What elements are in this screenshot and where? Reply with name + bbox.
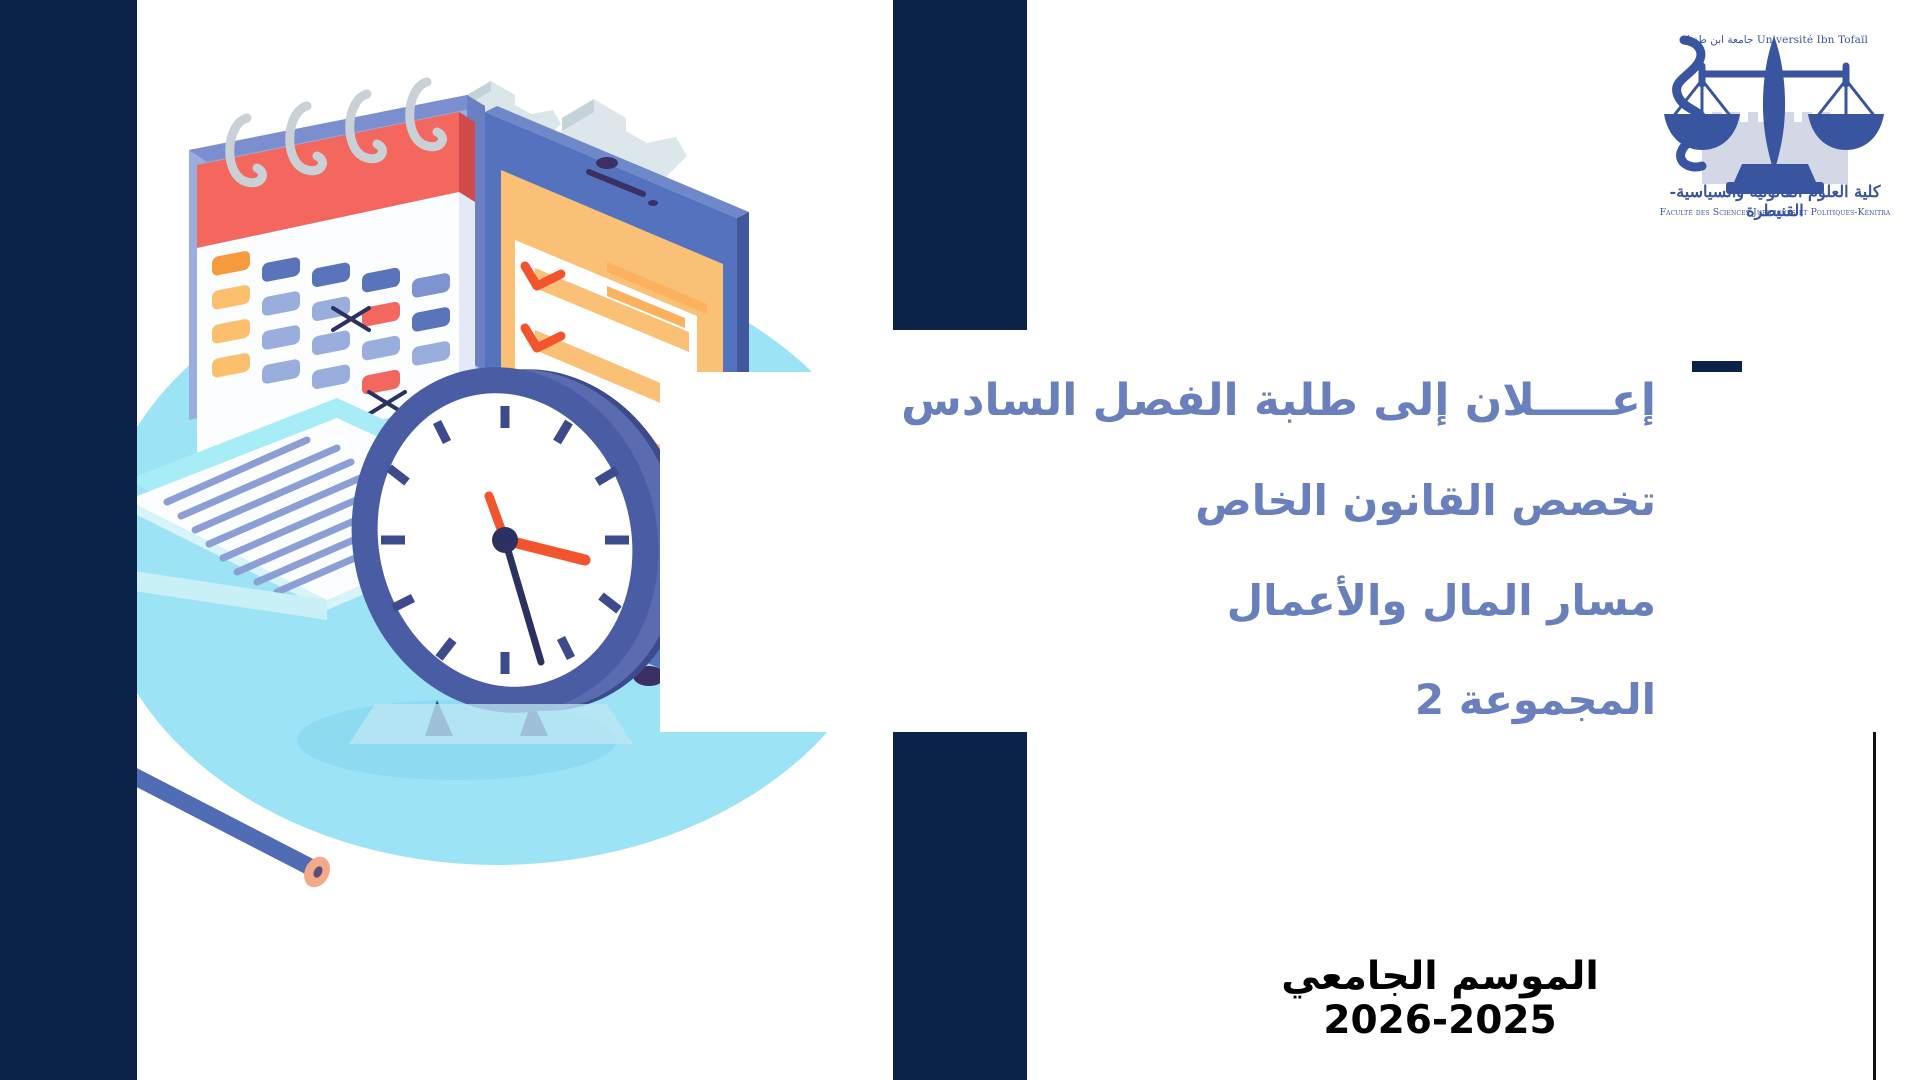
title-line-3: مسار المال والأعمال bbox=[660, 579, 1656, 623]
right-thin-rule bbox=[1873, 712, 1876, 1080]
logo-university-name: Université Ibn Tofaïl جامعة ابن طفيل bbox=[1650, 34, 1900, 46]
tablet-speaker bbox=[596, 157, 618, 169]
tablet-camera bbox=[648, 200, 658, 206]
academic-year-value: 2026-2025 bbox=[1100, 999, 1780, 1043]
title-line-1: إعـــــلان إلى طلبة الفصل السادس bbox=[660, 378, 1656, 424]
clock-foot bbox=[349, 704, 633, 744]
mid-navy-bar-top bbox=[893, 0, 1027, 330]
title-line-4: المجموعة 2 bbox=[660, 678, 1656, 722]
left-navy-bar bbox=[0, 0, 137, 1080]
academic-year-footer: الموسم الجامعي 2026-2025 bbox=[1100, 955, 1780, 1042]
slide-canvas: إعـــــلان إلى طلبة الفصل السادس تخصص ال… bbox=[0, 0, 1920, 1080]
announcement-title-block: إعـــــلان إلى طلبة الفصل السادس تخصص ال… bbox=[660, 372, 1660, 732]
university-logo: Université Ibn Tofaïl جامعة ابن طفيل bbox=[1650, 14, 1900, 242]
academic-year-label: الموسم الجامعي bbox=[1100, 955, 1780, 999]
title-line-2: تخصص القانون الخاص bbox=[660, 479, 1656, 523]
logo-pedestal bbox=[1734, 164, 1816, 182]
clock-center-pin bbox=[492, 527, 518, 553]
logo-faculty-french: Faculté des Sciences Juridiques et Polit… bbox=[1650, 207, 1900, 218]
